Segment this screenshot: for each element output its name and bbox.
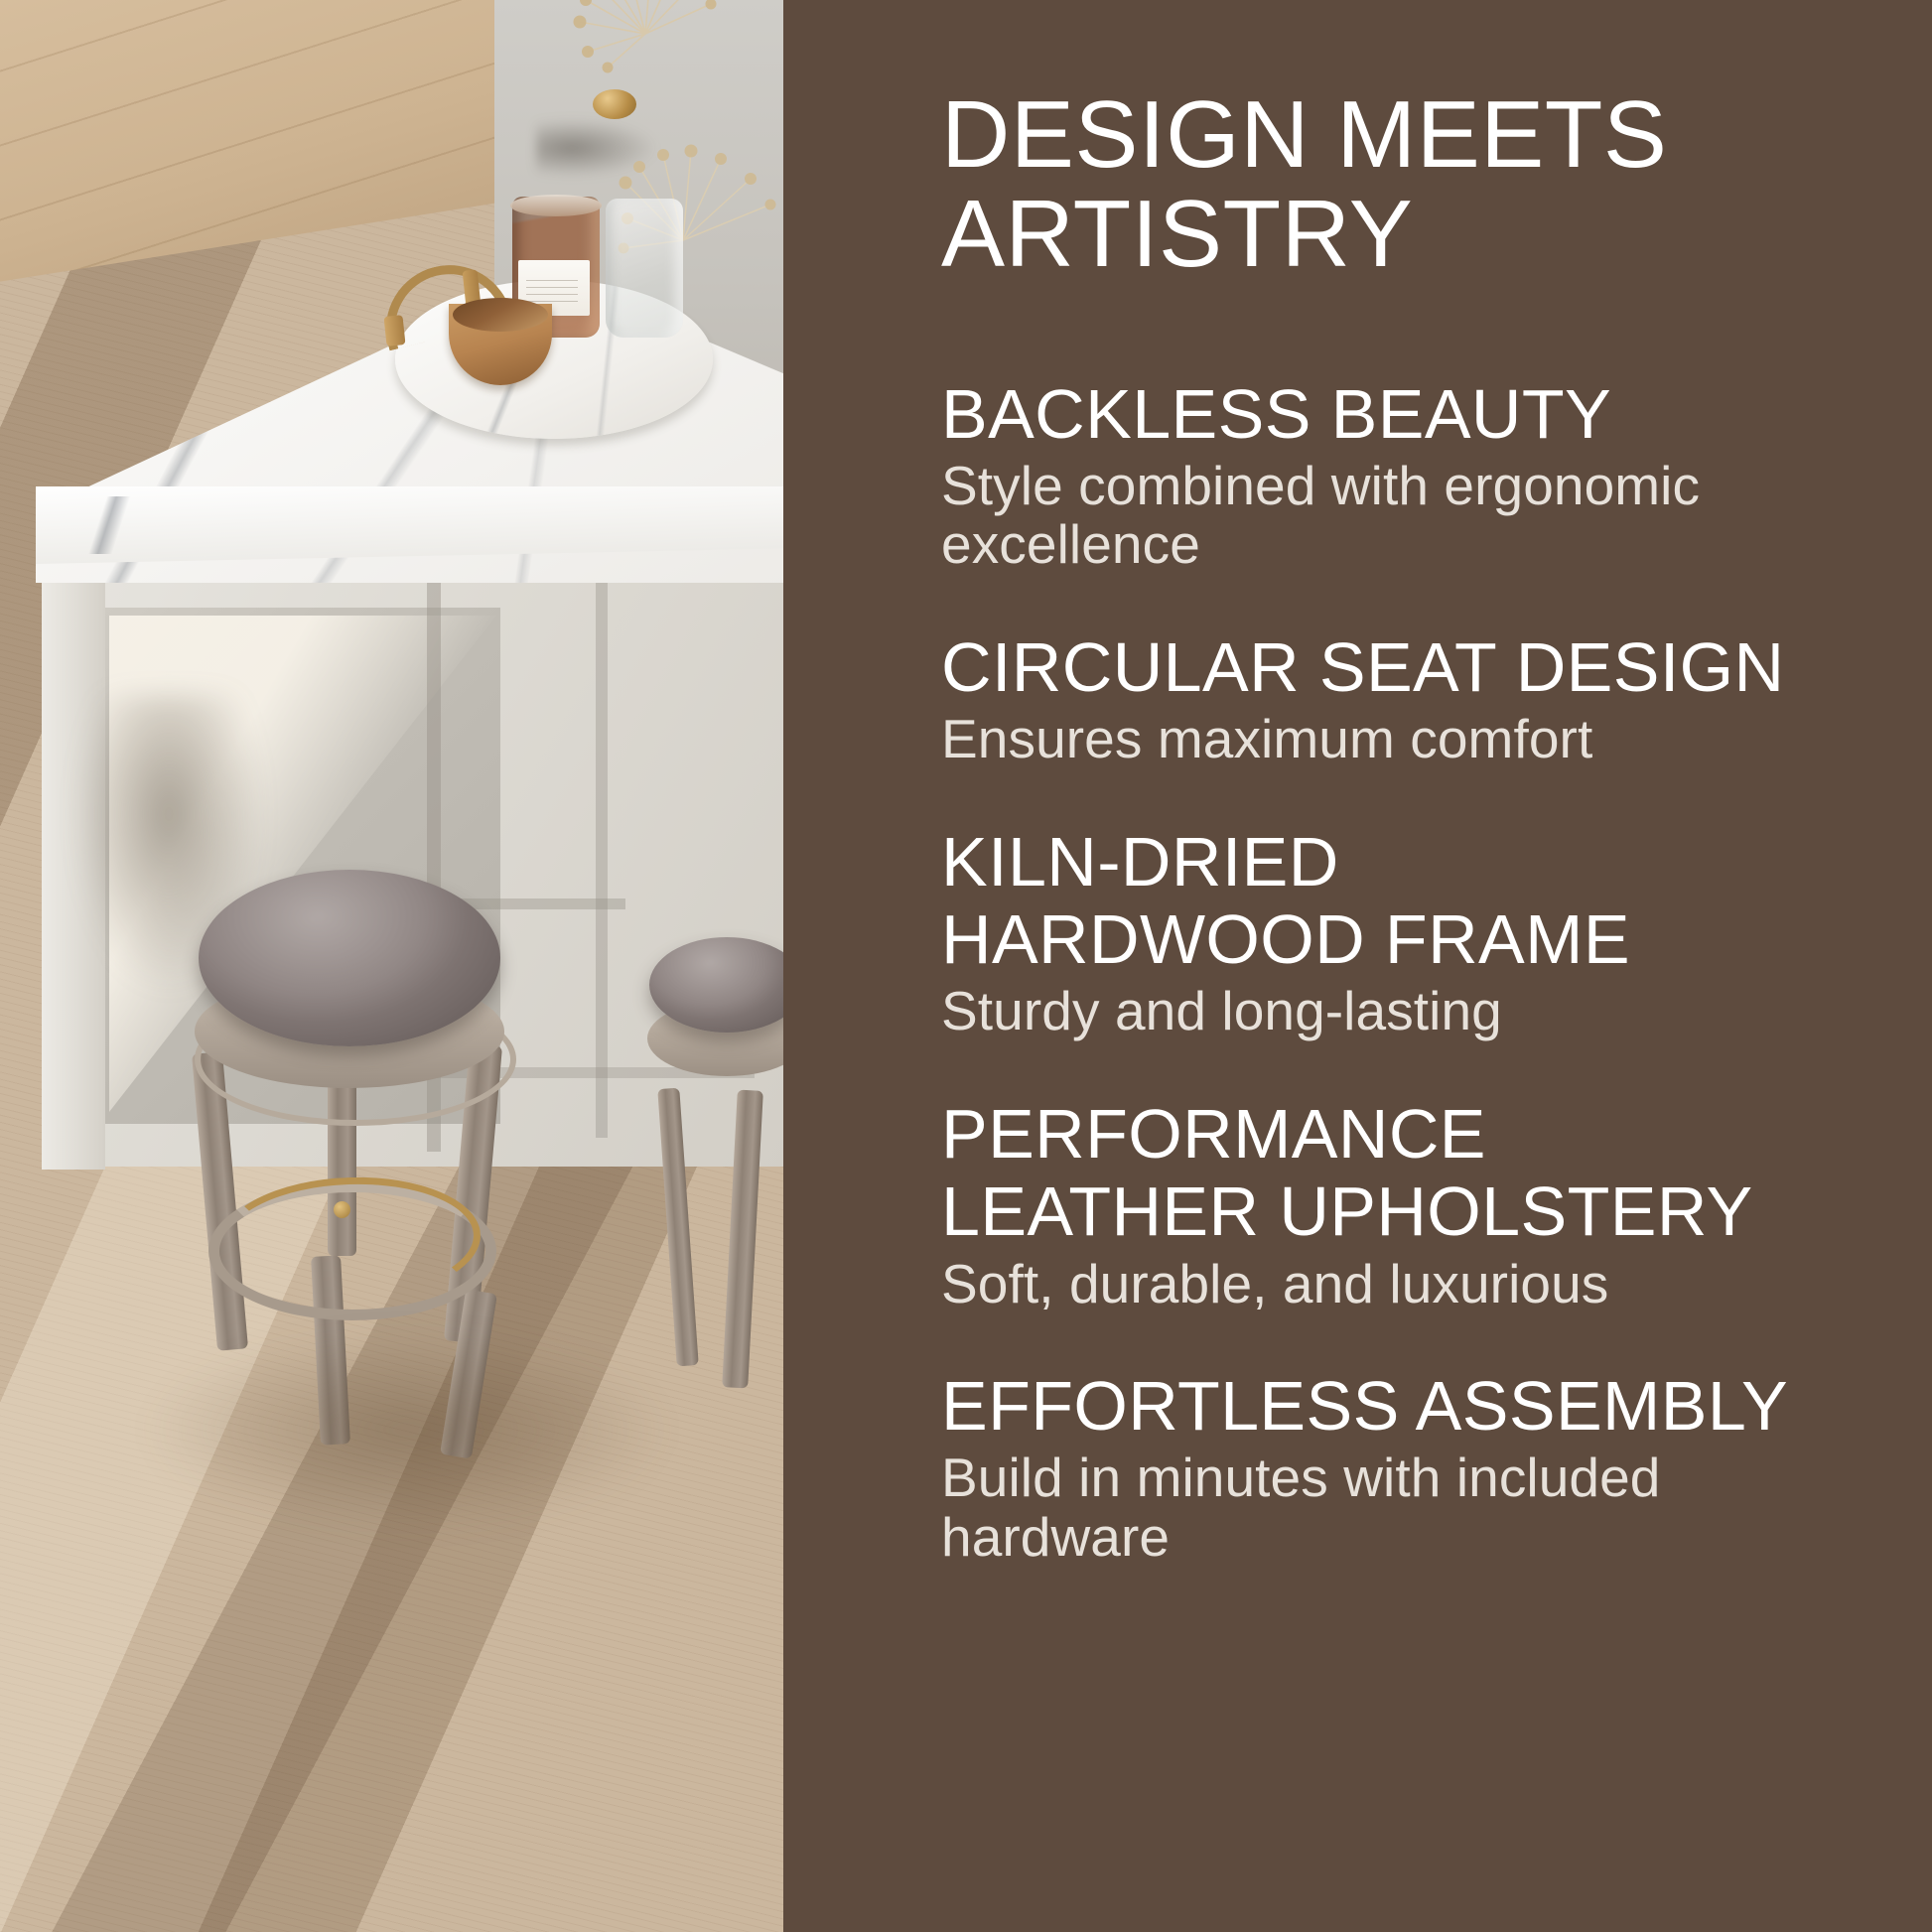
feature-description: Build in minutes with included hardware [941, 1449, 1872, 1567]
jar-label-text [526, 280, 578, 302]
feature-description: Sturdy and long-lasting [941, 982, 1872, 1040]
page-title: DESIGN MEETS ARTISTRY [941, 85, 1872, 284]
feature-circular-seat-design: CIRCULAR SEAT DESIGN Ensures maximum com… [941, 628, 1872, 769]
feature-backless-beauty: BACKLESS BEAUTY Style combined with ergo… [941, 375, 1872, 575]
feature-effortless-assembly: EFFORTLESS ASSEMBLY Build in minutes wit… [941, 1367, 1872, 1567]
product-photo [0, 0, 783, 1932]
jar-rim [510, 195, 602, 216]
faucet-base [383, 315, 405, 346]
product-feature-poster: DESIGN MEETS ARTISTRY BACKLESS BEAUTY St… [0, 0, 1932, 1932]
brass-accent [593, 89, 636, 119]
feature-title: EFFORTLESS ASSEMBLY [941, 1367, 1872, 1445]
countertop-edge-vein [60, 496, 278, 554]
feature-kiln-dried-hardwood-frame: KILN-DRIED HARDWOOD FRAME Sturdy and lon… [941, 823, 1872, 1041]
stool-seat-highlight [199, 870, 500, 1046]
feature-description: Soft, durable, and luxurious [941, 1255, 1872, 1313]
feature-description: Style combined with ergonomic excellence [941, 457, 1872, 575]
glass-vase [606, 199, 683, 338]
feature-description: Ensures maximum comfort [941, 710, 1872, 768]
feature-performance-leather-upholstery: PERFORMANCE LEATHER UPHOLSTERY Soft, dur… [941, 1095, 1872, 1313]
feature-title: CIRCULAR SEAT DESIGN [941, 628, 1872, 706]
feature-title: BACKLESS BEAUTY [941, 375, 1872, 453]
feature-panel: DESIGN MEETS ARTISTRY BACKLESS BEAUTY St… [783, 0, 1932, 1932]
feature-title: PERFORMANCE LEATHER UPHOLSTERY [941, 1095, 1872, 1251]
stool-brass-hardware [334, 1201, 350, 1218]
wooden-bowl-interior [453, 298, 548, 332]
stool-floor-shadow [149, 1330, 665, 1529]
feature-title: KILN-DRIED HARDWOOD FRAME [941, 823, 1872, 979]
